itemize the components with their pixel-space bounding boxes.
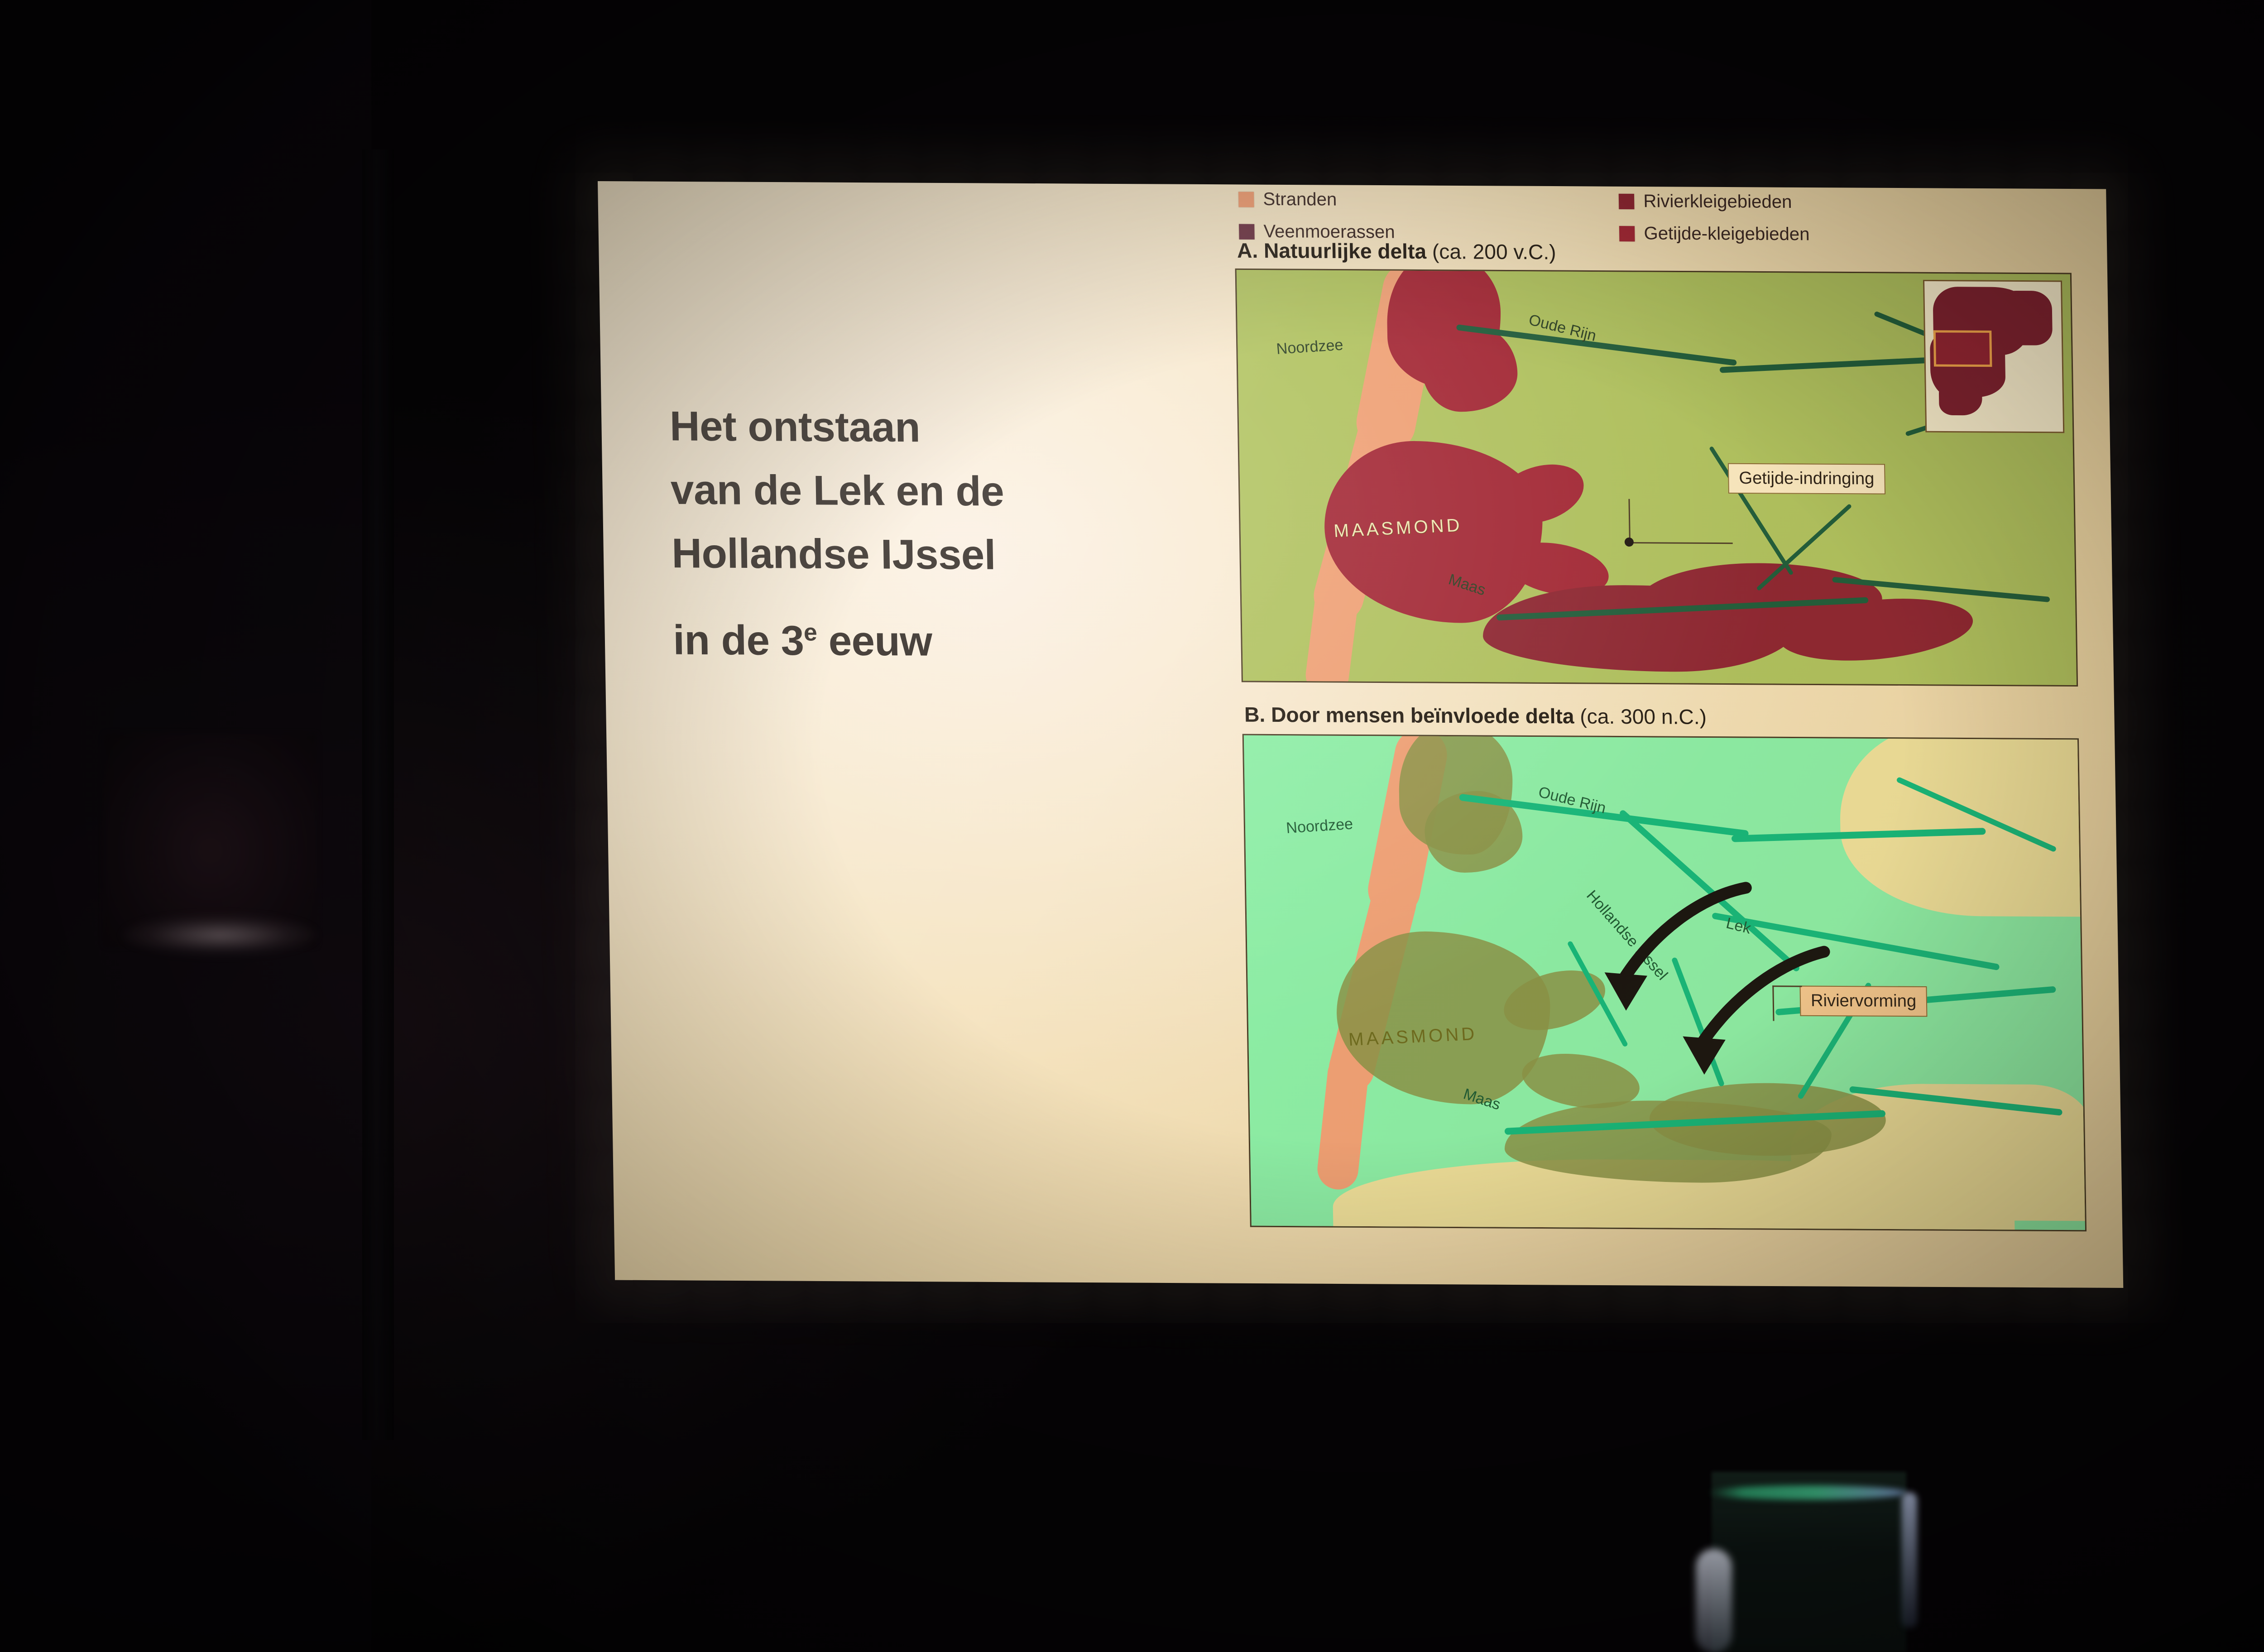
title-line-3: Hollandse IJssel [671,522,1199,588]
map-panel-natural-delta: Noordzee Oude Rijn Maas MAASMOND Getijde… [1235,269,2078,687]
legend-item-rivierkleigebieden: Rivierkleigebieden [1619,191,1929,213]
page-title: Het ontstaan van de Lek en de Hollandse … [669,395,1201,675]
inset-region-highlight-box [1933,330,1992,367]
legend-label-stranden: Stranden [1263,189,1337,210]
presentation-slide: Het ontstaan van de Lek en de Hollandse … [598,181,2123,1288]
legend-column-left: Stranden Veenmoerassen [1238,189,1515,243]
legend-item-stranden: Stranden [1238,189,1515,211]
title-line-2: van de Lek en de [670,458,1198,524]
panel-a-title: Natuurlijke delta [1264,239,1427,263]
panel-b-title: Door mensen beïnvloede delta [1271,703,1574,728]
title-century-prefix: in de 3 [673,617,804,664]
panel-a-letter: A. [1237,239,1258,262]
map-panel-human-influenced-delta: Noordzee Oude Rijn Hollandse IJssel Lek … [1242,734,2087,1232]
projection-area: Het ontstaan van de Lek en de Hollandse … [0,0,2264,1652]
legend-label-getijde-kleigebieden: Getijde-kleigebieden [1644,223,1810,245]
callout-leader-b [1772,985,1802,1021]
inset-netherlands-shape-4 [1993,291,2053,346]
panel-a-date: (ca. 200 v.C.) [1432,240,1556,264]
callout-leader-a [1628,499,1732,544]
legend-swatch-stranden [1238,192,1254,207]
panel-a-heading: A. Natuurlijke delta (ca. 200 v.C.) [1237,238,1556,264]
inset-netherlands-shape-3 [1938,379,1982,416]
photo-canvas: Het ontstaan van de Lek en de Hollandse … [0,0,2264,1652]
title-line-4: in de 3e eeuw [672,609,1200,675]
panel-b-heading: B. Door mensen beïnvloede delta (ca. 300… [1244,702,1707,729]
legend-swatch-getijde-kleigebieden [1619,226,1635,241]
title-century-suffix: eeuw [817,618,933,665]
panel-b-date: (ca. 300 n.C.) [1580,704,1707,729]
legend-column-right: Rivierkleigebieden Getijde-kleigebieden [1619,191,1930,245]
callout-anchor-dot-a [1625,538,1634,547]
panel-b-letter: B. [1244,702,1266,726]
title-line-1: Het ontstaan [669,395,1197,461]
callout-getijde-indringing: Getijde-indringing [1728,463,1885,495]
title-century-superscript: e [804,619,817,646]
legend-item-getijde-kleigebieden: Getijde-kleigebieden [1619,223,1930,245]
map-legend: Stranden Veenmoerassen Rivierkleigebiede… [1238,189,1930,245]
legend-swatch-rivierkleigebieden [1619,193,1635,209]
inset-overview-map [1923,280,2064,433]
legend-swatch-veenmoerassen [1239,224,1255,239]
legend-label-rivierkleigebieden: Rivierkleigebieden [1643,191,1792,212]
callout-riviervorming: Riviervorming [1799,986,1927,1017]
